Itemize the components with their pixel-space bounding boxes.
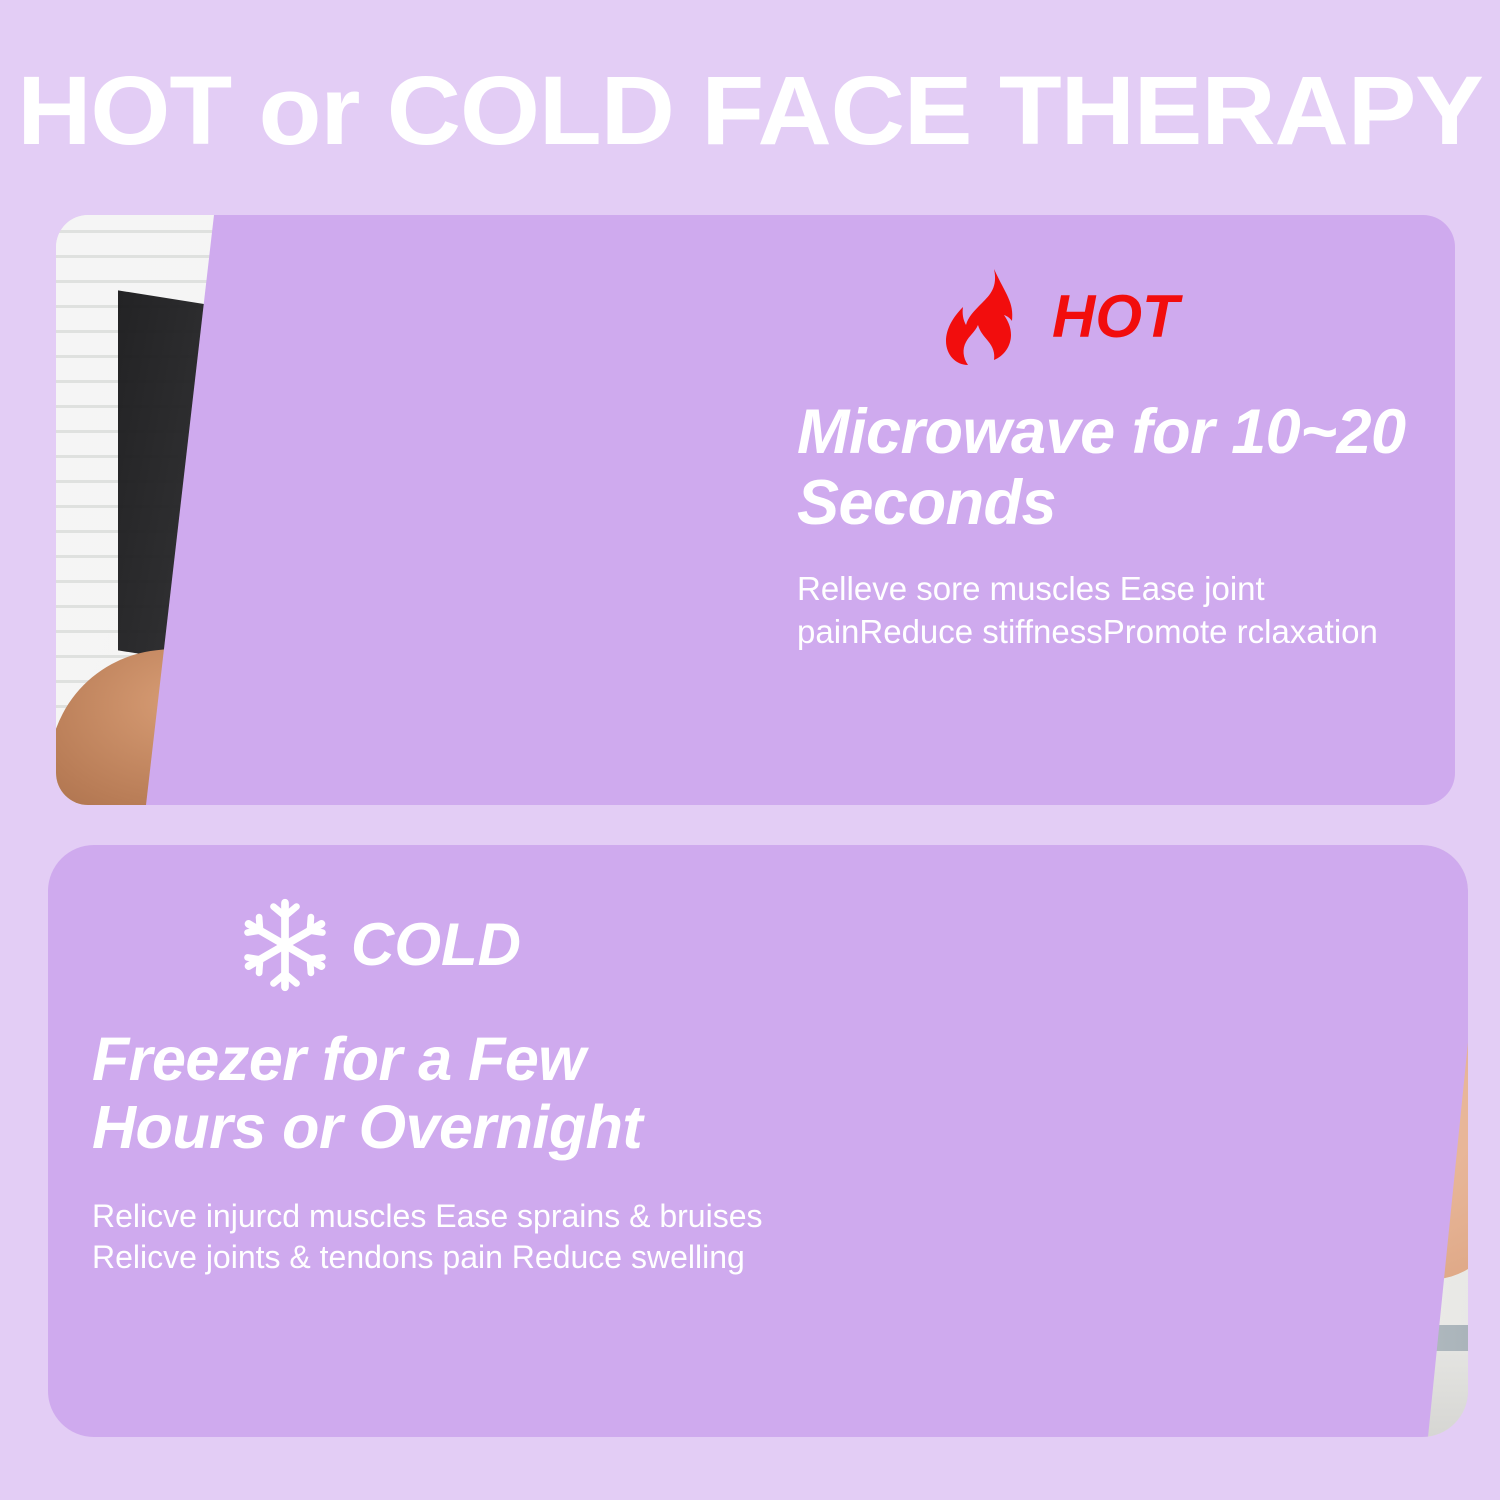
hot-body-text: Relleve sore muscles Ease joint painRedu… (797, 568, 1417, 654)
hot-headline: Microwave for 10~20 Seconds (797, 397, 1417, 538)
cold-body-text: Relicve injurcd muscles Ease sprains & b… (92, 1196, 772, 1279)
hot-card: 20:15 HOT Microwave for 10~20 Second (56, 215, 1455, 805)
flame-icon (942, 267, 1034, 367)
hot-badge: HOT (797, 267, 1417, 367)
freezer-photo (728, 845, 1468, 1437)
cold-card: COLD Freezer for a Few Hours or Overnigh… (48, 845, 1468, 1437)
page-title: HOT or COLD FACE THERAPY (0, 62, 1500, 159)
cold-badge: COLD (92, 895, 772, 995)
cold-badge-label: COLD (351, 915, 521, 975)
hot-content: HOT Microwave for 10~20 Seconds Relleve … (797, 267, 1417, 654)
hot-badge-label: HOT (1052, 287, 1179, 347)
cold-headline: Freezer for a Few Hours or Overnight (92, 1025, 772, 1162)
cold-content: COLD Freezer for a Few Hours or Overnigh… (92, 895, 772, 1279)
snowflake-icon (237, 895, 333, 995)
microwave-photo: 20:15 (56, 215, 846, 805)
